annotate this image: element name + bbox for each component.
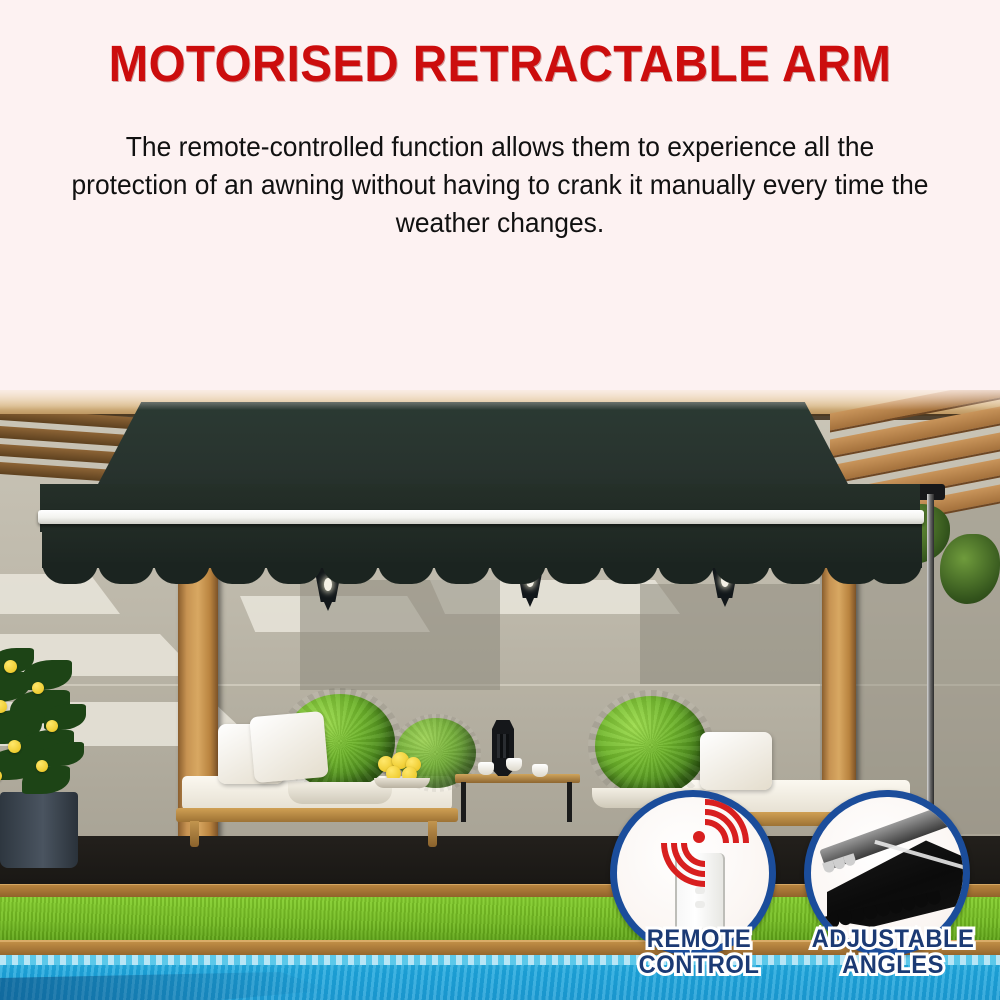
planter-pot: [0, 792, 78, 868]
cushion: [249, 711, 328, 783]
product-feature-image: MOTORISED RETRACTABLE ARM The remote-con…: [0, 0, 1000, 1000]
wireless-signal-icon: [659, 805, 739, 867]
topiary-plant: [595, 696, 707, 796]
badge-label-line1: REMOTE: [609, 926, 790, 952]
badge-label: ADJUSTABLE ANGLES: [803, 926, 984, 978]
awning-scallop-edge: [42, 562, 922, 584]
cushion: [700, 732, 772, 790]
feature-badges: REMOTE CONTROL: [600, 786, 1000, 1000]
awning-front-bar: [38, 510, 924, 524]
badge-label-line2: CONTROL: [609, 952, 790, 978]
badge-label: REMOTE CONTROL: [609, 926, 790, 978]
page-title: MOTORISED RETRACTABLE ARM: [35, 34, 965, 93]
cup: [532, 764, 548, 777]
page-subtitle: The remote-controlled function allows th…: [68, 128, 932, 242]
lemon-tree: [0, 638, 120, 803]
cup: [478, 762, 494, 775]
badge-label-line1: ADJUSTABLE: [803, 926, 984, 952]
cup: [506, 758, 522, 771]
header-panel: MOTORISED RETRACTABLE ARM The remote-con…: [0, 0, 1000, 390]
badge-label-line2: ANGLES: [803, 952, 984, 978]
